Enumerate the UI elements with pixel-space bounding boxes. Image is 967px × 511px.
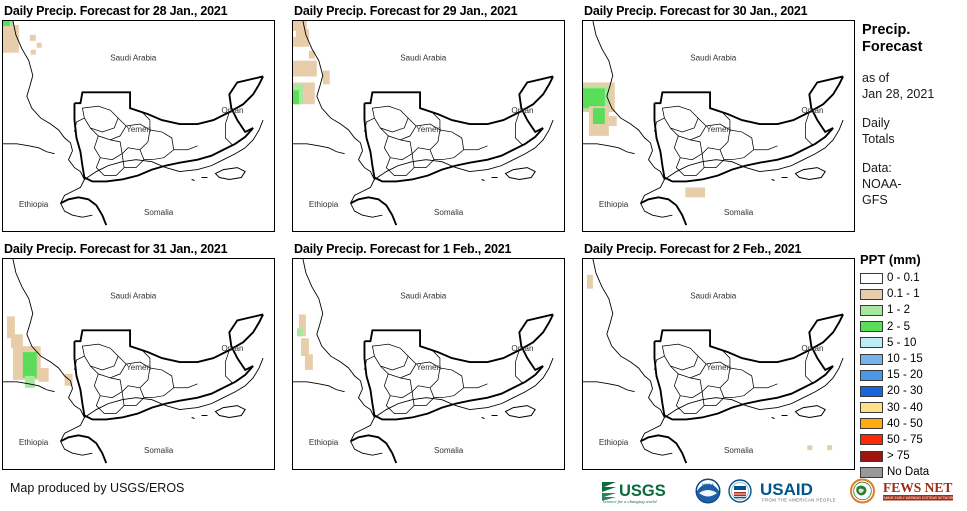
coastline-layer	[3, 21, 263, 217]
svg-text:science for a changing world: science for a changing world	[603, 499, 657, 504]
legend-label: 0 - 0.1	[887, 272, 920, 284]
map-graphic: Saudi Arabia Oman Yemen Ethiopia Somalia	[293, 21, 564, 231]
map-label-layer: Saudi Arabia Oman Yemen Ethiopia Somalia	[309, 54, 534, 218]
noaa-logo: NOAA	[695, 478, 721, 504]
country-borders-layer	[61, 314, 264, 463]
panel-title: Daily Precip. Forecast for 29 Jan., 2021	[294, 2, 517, 20]
panel-title: Daily Precip. Forecast for 31 Jan., 2021	[4, 240, 227, 258]
label-yemen: Yemen	[706, 125, 731, 134]
coastline-layer	[3, 259, 263, 455]
legend-item-2: 1 - 2	[860, 302, 967, 318]
map-frame[interactable]: Saudi Arabia Oman Yemen Ethiopia Somalia	[582, 20, 855, 232]
legend-label: 50 - 75	[887, 434, 923, 446]
legend-swatch-icon	[860, 386, 883, 397]
data-line2: NOAA-	[862, 176, 967, 192]
map-graphic: Saudi Arabia Oman Yemen Ethiopia Somalia	[293, 259, 564, 469]
label-ethiopia: Ethiopia	[19, 438, 49, 447]
label-saudi-arabia: Saudi Arabia	[690, 292, 737, 301]
panel-title: Daily Precip. Forecast for 1 Feb., 2021	[294, 240, 511, 258]
map-graphic: Saudi Arabia Oman Yemen Ethiopia Somalia	[3, 259, 274, 469]
country-borders-layer	[351, 76, 554, 225]
label-saudi-arabia: Saudi Arabia	[400, 54, 447, 63]
map-page: Daily Precip. Forecast for 28 Jan., 2021	[0, 0, 967, 511]
usaid-logo: USAID FROM THE AMERICAN PEOPLE	[759, 478, 843, 504]
legend-swatch-icon	[860, 370, 883, 381]
legend-item-7: 20 - 30	[860, 383, 967, 399]
legend-label: 30 - 40	[887, 402, 923, 414]
legend-swatch-icon	[860, 402, 883, 413]
label-somalia: Somalia	[434, 208, 464, 217]
country-borders-layer	[641, 314, 844, 463]
panel-title: Daily Precip. Forecast for 30 Jan., 2021	[584, 2, 807, 20]
totals-line1: Daily	[862, 115, 967, 131]
map-frame[interactable]: Saudi Arabia Oman Yemen Ethiopia Somalia	[292, 258, 565, 470]
info-title-line2: Forecast	[862, 39, 967, 56]
map-frame[interactable]: Saudi Arabia Oman Yemen Ethiopia Somalia	[2, 258, 275, 470]
map-label-layer: Saudi Arabia Oman Yemen Ethiopia Somalia	[309, 292, 534, 456]
as-of-block: as of Jan 28, 2021	[862, 70, 967, 102]
map-credit: Map produced by USGS/EROS	[10, 481, 184, 495]
fews-net-logo: FEWS NET FAMINE EARLY WARNING SYSTEMS NE…	[882, 478, 956, 504]
label-saudi-arabia: Saudi Arabia	[110, 54, 157, 63]
precip-layer	[293, 21, 330, 104]
legend-swatch-icon	[860, 354, 883, 365]
label-saudi-arabia: Saudi Arabia	[110, 292, 157, 301]
panel-title: Daily Precip. Forecast for 28 Jan., 2021	[4, 2, 227, 20]
label-ethiopia: Ethiopia	[599, 438, 629, 447]
legend-swatch-icon	[860, 451, 883, 462]
legend-label: 1 - 2	[887, 304, 910, 316]
precip-layer	[583, 82, 705, 197]
info-column: Precip. Forecast as of Jan 28, 2021 Dail…	[862, 22, 967, 221]
legend-swatch-icon	[860, 305, 883, 316]
label-oman: Oman	[801, 344, 823, 353]
coastline-layer	[293, 259, 553, 455]
usgs-logo: USGS science for a changing world	[600, 478, 688, 504]
legend-item-1: 0.1 - 1	[860, 286, 967, 302]
precip-layer	[297, 314, 313, 369]
legend-swatch-icon	[860, 337, 883, 348]
legend-item-0: 0 - 0.1	[860, 270, 967, 286]
label-somalia: Somalia	[724, 446, 754, 455]
country-borders-layer	[351, 314, 554, 463]
label-ethiopia: Ethiopia	[19, 200, 49, 209]
label-ethiopia: Ethiopia	[309, 438, 339, 447]
country-borders-layer	[61, 76, 264, 225]
totals-line2: Totals	[862, 131, 967, 147]
svg-text:NOAA: NOAA	[702, 482, 714, 487]
legend-item-11: > 75	[860, 448, 967, 464]
map-panel-6: Daily Precip. Forecast for 2 Feb., 2021	[580, 240, 857, 475]
map-label-layer: Saudi Arabia Oman Yemen Ethiopia Somalia	[599, 292, 824, 456]
island-layer	[192, 406, 246, 419]
island-layer	[192, 168, 246, 181]
country-borders-layer	[641, 76, 844, 225]
legend-swatch-icon	[860, 418, 883, 429]
legend-swatch-icon	[860, 273, 883, 284]
coastline-layer	[293, 21, 553, 217]
coastline-layer	[583, 21, 843, 217]
legend-label: 40 - 50	[887, 418, 923, 430]
legend-swatch-icon	[860, 434, 883, 445]
as-of-line2: Jan 28, 2021	[862, 86, 967, 102]
panel-title: Daily Precip. Forecast for 2 Feb., 2021	[584, 240, 801, 258]
map-label-layer: Saudi Arabia Oman Yemen Ethiopia Somalia	[19, 292, 244, 456]
legend-item-4: 5 - 10	[860, 335, 967, 351]
legend-swatch-icon	[860, 321, 883, 332]
label-oman: Oman	[221, 344, 243, 353]
map-panel-2: Daily Precip. Forecast for 29 Jan., 2021	[290, 2, 567, 237]
label-yemen: Yemen	[126, 125, 151, 134]
label-yemen: Yemen	[416, 363, 441, 372]
svg-text:FROM THE AMERICAN PEOPLE: FROM THE AMERICAN PEOPLE	[762, 498, 836, 503]
label-yemen: Yemen	[416, 125, 441, 134]
label-saudi-arabia: Saudi Arabia	[400, 292, 447, 301]
label-yemen: Yemen	[706, 363, 731, 372]
island-layer	[482, 168, 536, 181]
map-graphic: Saudi Arabia Oman Yemen Ethiopia Somalia	[583, 259, 854, 469]
label-yemen: Yemen	[126, 363, 151, 372]
map-graphic: Saudi Arabia Oman Yemen Ethiopia Somalia	[583, 21, 854, 231]
legend-label: > 75	[887, 450, 910, 462]
label-saudi-arabia: Saudi Arabia	[690, 54, 737, 63]
legend-label: 0.1 - 1	[887, 288, 920, 300]
precip-layer	[7, 316, 73, 387]
legend-item-8: 30 - 40	[860, 400, 967, 416]
island-layer	[772, 168, 826, 181]
map-label-layer: Saudi Arabia Oman Yemen Ethiopia Somalia	[599, 54, 824, 218]
map-frame[interactable]: Saudi Arabia Oman Yemen Ethiopia Somalia	[2, 20, 275, 232]
map-panel-3: Daily Precip. Forecast for 30 Jan., 2021	[580, 2, 857, 237]
svg-text:FEWS NET: FEWS NET	[883, 480, 952, 495]
island-layer	[482, 406, 536, 419]
map-frame[interactable]: Saudi Arabia Oman Yemen Ethiopia Somalia	[582, 258, 855, 470]
label-ethiopia: Ethiopia	[599, 200, 629, 209]
legend: PPT (mm) 0 - 0.1 0.1 - 1 1 - 2 2 - 5 5 -…	[860, 252, 967, 480]
data-line3: GFS	[862, 192, 967, 208]
legend-item-10: 50 - 75	[860, 432, 967, 448]
fews-net-globe-icon	[850, 478, 875, 504]
legend-label: 5 - 10	[887, 337, 916, 349]
map-graphic: Saudi Arabia Oman Yemen Ethiopia Somalia	[3, 21, 274, 231]
legend-label: 2 - 5	[887, 321, 910, 333]
legend-item-3: 2 - 5	[860, 319, 967, 335]
svg-text:USGS: USGS	[619, 482, 666, 500]
label-oman: Oman	[801, 106, 823, 115]
legend-item-6: 15 - 20	[860, 367, 967, 383]
label-somalia: Somalia	[724, 208, 754, 217]
map-frame[interactable]: Saudi Arabia Oman Yemen Ethiopia Somalia	[292, 20, 565, 232]
label-somalia: Somalia	[144, 208, 174, 217]
coastline-layer	[583, 259, 843, 455]
legend-label: 20 - 30	[887, 385, 923, 397]
label-oman: Oman	[511, 344, 533, 353]
data-line1: Data:	[862, 160, 967, 176]
label-somalia: Somalia	[144, 446, 174, 455]
label-oman: Oman	[511, 106, 533, 115]
as-of-line1: as of	[862, 70, 967, 86]
totals-block: Daily Totals	[862, 115, 967, 147]
legend-title: PPT (mm)	[860, 252, 967, 267]
map-panel-5: Daily Precip. Forecast for 1 Feb., 2021	[290, 240, 567, 475]
svg-text:FAMINE EARLY WARNING SYSTEMS N: FAMINE EARLY WARNING SYSTEMS NETWORK	[882, 496, 955, 500]
map-panel-1: Daily Precip. Forecast for 28 Jan., 2021	[0, 2, 277, 237]
label-oman: Oman	[221, 106, 243, 115]
label-ethiopia: Ethiopia	[309, 200, 339, 209]
legend-item-5: 10 - 15	[860, 351, 967, 367]
usaid-seal-icon	[728, 478, 752, 504]
legend-swatch-icon	[860, 289, 883, 300]
legend-item-9: 40 - 50	[860, 416, 967, 432]
legend-label: 10 - 15	[887, 353, 923, 365]
island-layer	[772, 406, 826, 419]
logo-strip: USGS science for a changing world NOAA U…	[600, 476, 956, 506]
info-title: Precip. Forecast	[862, 22, 967, 56]
label-somalia: Somalia	[434, 446, 464, 455]
info-title-line1: Precip.	[862, 22, 967, 39]
map-label-layer: Saudi Arabia Oman Yemen Ethiopia Somalia	[19, 54, 244, 218]
map-panel-4: Daily Precip. Forecast for 31 Jan., 2021	[0, 240, 277, 475]
legend-label: 15 - 20	[887, 369, 923, 381]
data-source-block: Data: NOAA- GFS	[862, 160, 967, 208]
svg-text:USAID: USAID	[760, 480, 813, 499]
